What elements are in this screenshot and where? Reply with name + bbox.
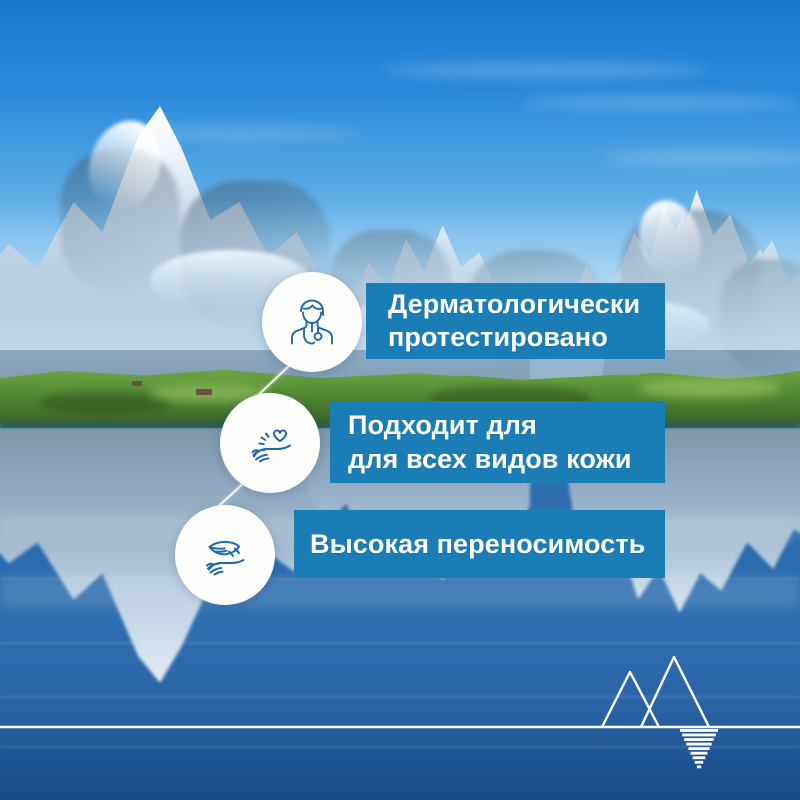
feature-badge-dermatologically-tested[interactable]	[262, 272, 362, 372]
feature-banner-dermatologically-tested: Дерматологически протестировано	[366, 283, 665, 359]
mountain-hut	[196, 389, 212, 395]
feature-text-line: Подходит для	[348, 408, 665, 442]
feature-banner-suitable-for-all-skin-types: Подходит для для всех видов кожи	[330, 401, 665, 483]
doctor-stethoscope-icon	[281, 291, 343, 353]
feature-text-line: Дерматологически	[388, 288, 665, 321]
mountain-hut	[132, 381, 142, 386]
feature-text-line: для всех видов кожи	[348, 442, 665, 476]
promo-banner-canvas: Дерматологически протестировано Подходит…	[0, 0, 800, 800]
feature-text-line: протестировано	[388, 321, 665, 354]
hand-holding-feather-icon	[193, 523, 257, 587]
background-photo	[0, 0, 800, 800]
feature-badge-high-tolerance[interactable]	[175, 505, 275, 605]
lake-water	[0, 428, 800, 800]
feature-text-line: Высокая переносимость	[310, 528, 665, 561]
hand-holding-heart-icon	[238, 411, 302, 475]
feature-badge-suitable-for-all-skin-types[interactable]	[220, 393, 320, 493]
feature-banner-high-tolerance: Высокая переносимость	[294, 510, 665, 578]
